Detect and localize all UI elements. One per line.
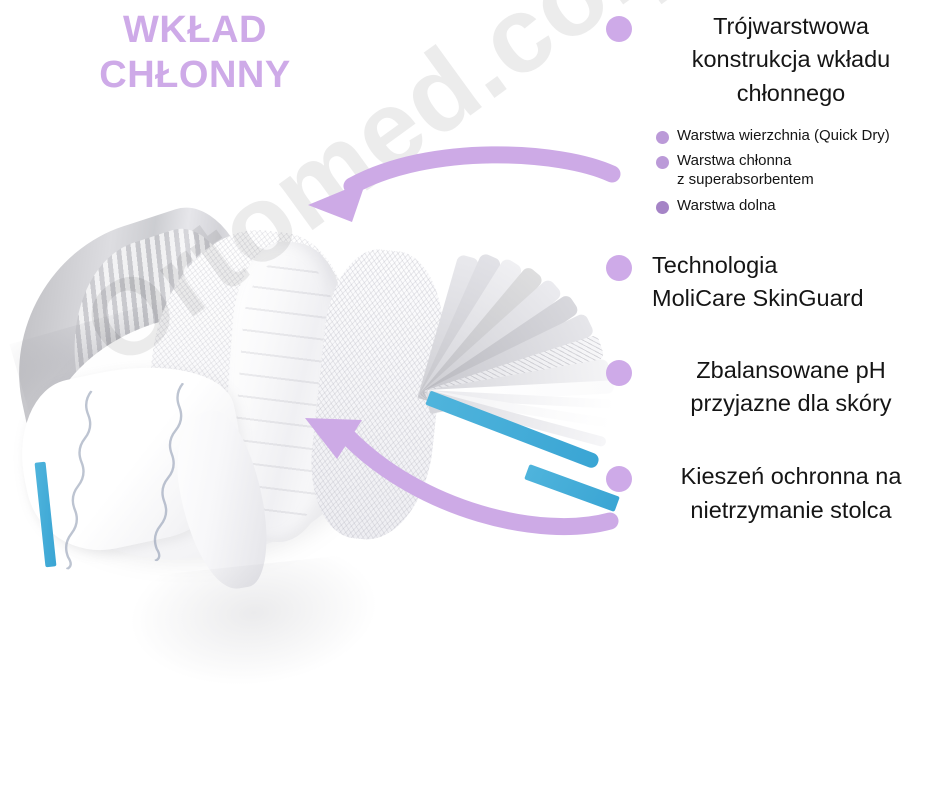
drop-shadow-graphic — [124, 552, 385, 697]
product-image — [0, 110, 620, 630]
purple-dot-icon — [606, 360, 632, 386]
feature-label: Technologia MoliCare SkinGuard — [642, 249, 940, 316]
feature-label: Zbalansowane pH przyjazne dla skóry — [642, 354, 940, 421]
sub-layer-bottom-layer[interactable]: Warstwa dolna — [656, 196, 940, 215]
feature-three-layer-construction[interactable]: Trójwarstwowa konstrukcja wkładu chłonne… — [606, 10, 940, 110]
purple-dot-icon — [656, 201, 669, 214]
sub-layer-top-layer[interactable]: Warstwa wierzchnia (Quick Dry) — [656, 126, 940, 145]
sub-layer-label: Warstwa dolna — [677, 196, 776, 215]
feature-label: Kieszeń ochronna na nietrzymanie stolca — [642, 460, 940, 527]
feature-molicare-skinguard[interactable]: Technologia MoliCare SkinGuard — [606, 249, 940, 316]
purple-dot-icon — [606, 466, 632, 492]
purple-dot-icon — [656, 156, 669, 169]
sub-layer-list: Warstwa wierzchnia (Quick Dry) Warstwa c… — [606, 126, 940, 215]
sub-layer-label: Warstwa wierzchnia (Quick Dry) — [677, 126, 890, 145]
page-title: WKŁAD CHŁONNY — [0, 8, 390, 98]
feature-protective-pocket[interactable]: Kieszeń ochronna na nietrzymanie stolca — [606, 460, 940, 527]
feature-list: Trójwarstwowa konstrukcja wkładu chłonne… — [606, 0, 940, 527]
layer-cross-section-fan — [400, 240, 630, 530]
sub-layer-absorbent-layer[interactable]: Warstwa chłonna z superabsorbentem — [656, 151, 940, 189]
purple-dot-icon — [606, 255, 632, 281]
feature-balanced-ph[interactable]: Zbalansowane pH przyjazne dla skóry — [606, 354, 940, 421]
feature-label: Trójwarstwowa konstrukcja wkładu chłonne… — [642, 10, 940, 110]
sub-layer-label: Warstwa chłonna z superabsorbentem — [677, 151, 814, 189]
purple-dot-icon — [606, 16, 632, 42]
purple-dot-icon — [656, 131, 669, 144]
